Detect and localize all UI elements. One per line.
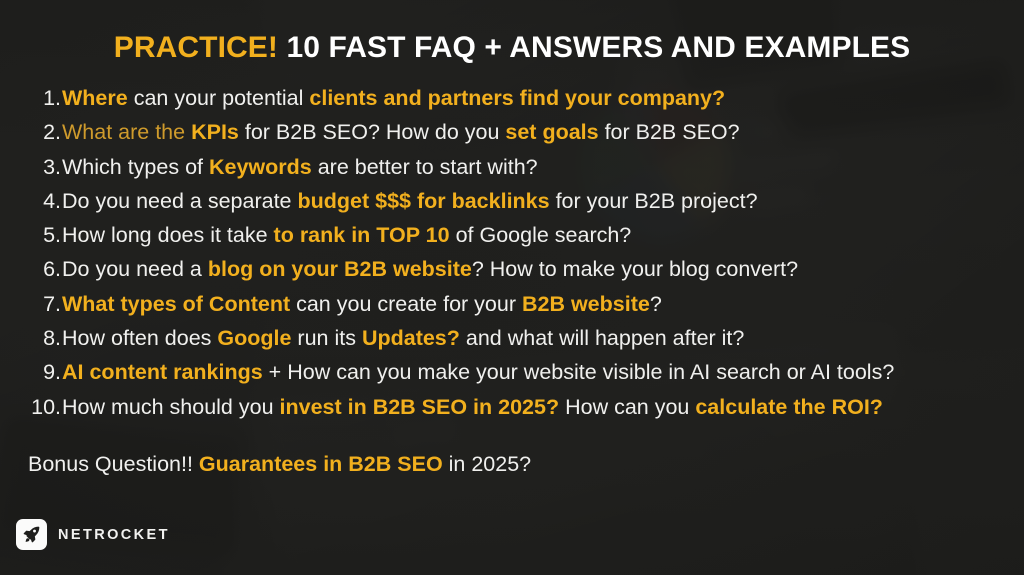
question-number: 4.: [0, 189, 62, 214]
question-text: Which types of Keywords are better to st…: [62, 155, 538, 180]
question-8-run-2: run its: [291, 326, 362, 350]
brand-name: NETROCKET: [58, 527, 170, 543]
question-item: 7.What types of Content can you create f…: [0, 292, 1024, 326]
question-text: AI content rankings + How can you make y…: [62, 360, 894, 385]
question-6-run-2: ? How to make your blog convert?: [472, 257, 798, 281]
question-text: Do you need a blog on your B2B website? …: [62, 257, 798, 282]
bonus-run-2: in 2025?: [443, 452, 531, 476]
question-text: How long does it take to rank in TOP 10 …: [62, 223, 631, 248]
question-5-run-2: of Google search?: [450, 223, 632, 247]
question-2-run-4: for B2B SEO?: [599, 120, 740, 144]
question-3-run-1: Keywords: [209, 155, 312, 179]
rocket-icon: [16, 519, 47, 550]
question-9-run-1: + How can you make your website visible …: [263, 360, 895, 384]
bonus-run-0: Bonus Question!!: [28, 452, 199, 476]
title-highlight: PRACTICE!: [114, 31, 278, 64]
question-number: 8.: [0, 326, 62, 351]
question-9-run-0: AI content rankings: [62, 360, 263, 384]
question-1-run-2: clients and partners find your company?: [309, 86, 725, 110]
question-10-run-2: How can you: [559, 395, 695, 419]
question-item: 4.Do you need a separate budget $$$ for …: [0, 189, 1024, 223]
question-text: What are the KPIs for B2B SEO? How do yo…: [62, 120, 740, 145]
question-8-run-3: Updates?: [362, 326, 460, 350]
question-item: 5.How long does it take to rank in TOP 1…: [0, 223, 1024, 257]
question-item: 3.Which types of Keywords are better to …: [0, 155, 1024, 189]
question-7-run-3: ?: [650, 292, 662, 316]
question-text: What types of Content can you create for…: [62, 292, 662, 317]
question-8-run-0: How often does: [62, 326, 217, 350]
question-text: How often does Google run its Updates? a…: [62, 326, 744, 351]
question-6-run-0: Do you need a: [62, 257, 208, 281]
question-text: How much should you invest in B2B SEO in…: [62, 395, 883, 420]
question-item: 10.How much should you invest in B2B SEO…: [0, 395, 1024, 429]
question-number: 3.: [0, 155, 62, 180]
question-1-run-1: can your potential: [128, 86, 310, 110]
question-number: 5.: [0, 223, 62, 248]
page-title: PRACTICE! 10 FAST FAQ + ANSWERS AND EXAM…: [0, 31, 1024, 65]
question-4-run-1: budget $$$ for backlinks: [297, 189, 549, 213]
question-5-run-0: How long does it take: [62, 223, 274, 247]
question-8-run-1: Google: [217, 326, 291, 350]
question-7-run-1: can you create for your: [290, 292, 522, 316]
question-item: 1.Where can your potential clients and p…: [0, 86, 1024, 120]
question-2-run-1: KPIs: [191, 120, 239, 144]
slide-canvas: 20/423 Pageviews 2,958 Direct Search Eng…: [0, 0, 1024, 575]
question-list: 1.Where can your potential clients and p…: [0, 86, 1024, 429]
question-number: 2.: [0, 120, 62, 145]
question-6-run-1: blog on your B2B website: [208, 257, 472, 281]
bonus-question: Bonus Question!! Guarantees in B2B SEO i…: [28, 452, 531, 477]
question-2-run-3: set goals: [505, 120, 598, 144]
question-8-run-4: and what will happen after it?: [460, 326, 744, 350]
title-rest: 10 FAST FAQ + ANSWERS AND EXAMPLES: [286, 31, 910, 64]
question-3-run-0: Which types of: [62, 155, 209, 179]
question-10-run-0: How much should you: [62, 395, 280, 419]
question-number: 1.: [0, 86, 62, 111]
question-10-run-3: calculate the ROI?: [695, 395, 883, 419]
question-item: 8.How often does Google run its Updates?…: [0, 326, 1024, 360]
question-item: 9.AI content rankings + How can you make…: [0, 360, 1024, 394]
question-7-run-0: What types of Content: [62, 292, 290, 316]
question-number: 9.: [0, 360, 62, 385]
question-3-run-2: are better to start with?: [312, 155, 538, 179]
question-5-run-1: to rank in TOP 10: [274, 223, 450, 247]
question-number: 7.: [0, 292, 62, 317]
question-text: Do you need a separate budget $$$ for ba…: [62, 189, 758, 214]
question-2-run-2: for B2B SEO? How do you: [239, 120, 506, 144]
question-item: 2.What are the KPIs for B2B SEO? How do …: [0, 120, 1024, 154]
question-2-run-0: What are the: [62, 120, 191, 144]
question-item: 6.Do you need a blog on your B2B website…: [0, 257, 1024, 291]
bonus-run-1: Guarantees in B2B SEO: [199, 452, 443, 476]
question-1-run-0: Where: [62, 86, 128, 110]
question-number: 10.: [0, 395, 62, 420]
question-number: 6.: [0, 257, 62, 282]
brand-logo: NETROCKET: [16, 519, 170, 550]
question-4-run-0: Do you need a separate: [62, 189, 297, 213]
question-7-run-2: B2B website: [522, 292, 650, 316]
question-4-run-2: for your B2B project?: [550, 189, 758, 213]
question-10-run-1: invest in B2B SEO in 2025?: [280, 395, 560, 419]
question-text: Where can your potential clients and par…: [62, 86, 725, 111]
